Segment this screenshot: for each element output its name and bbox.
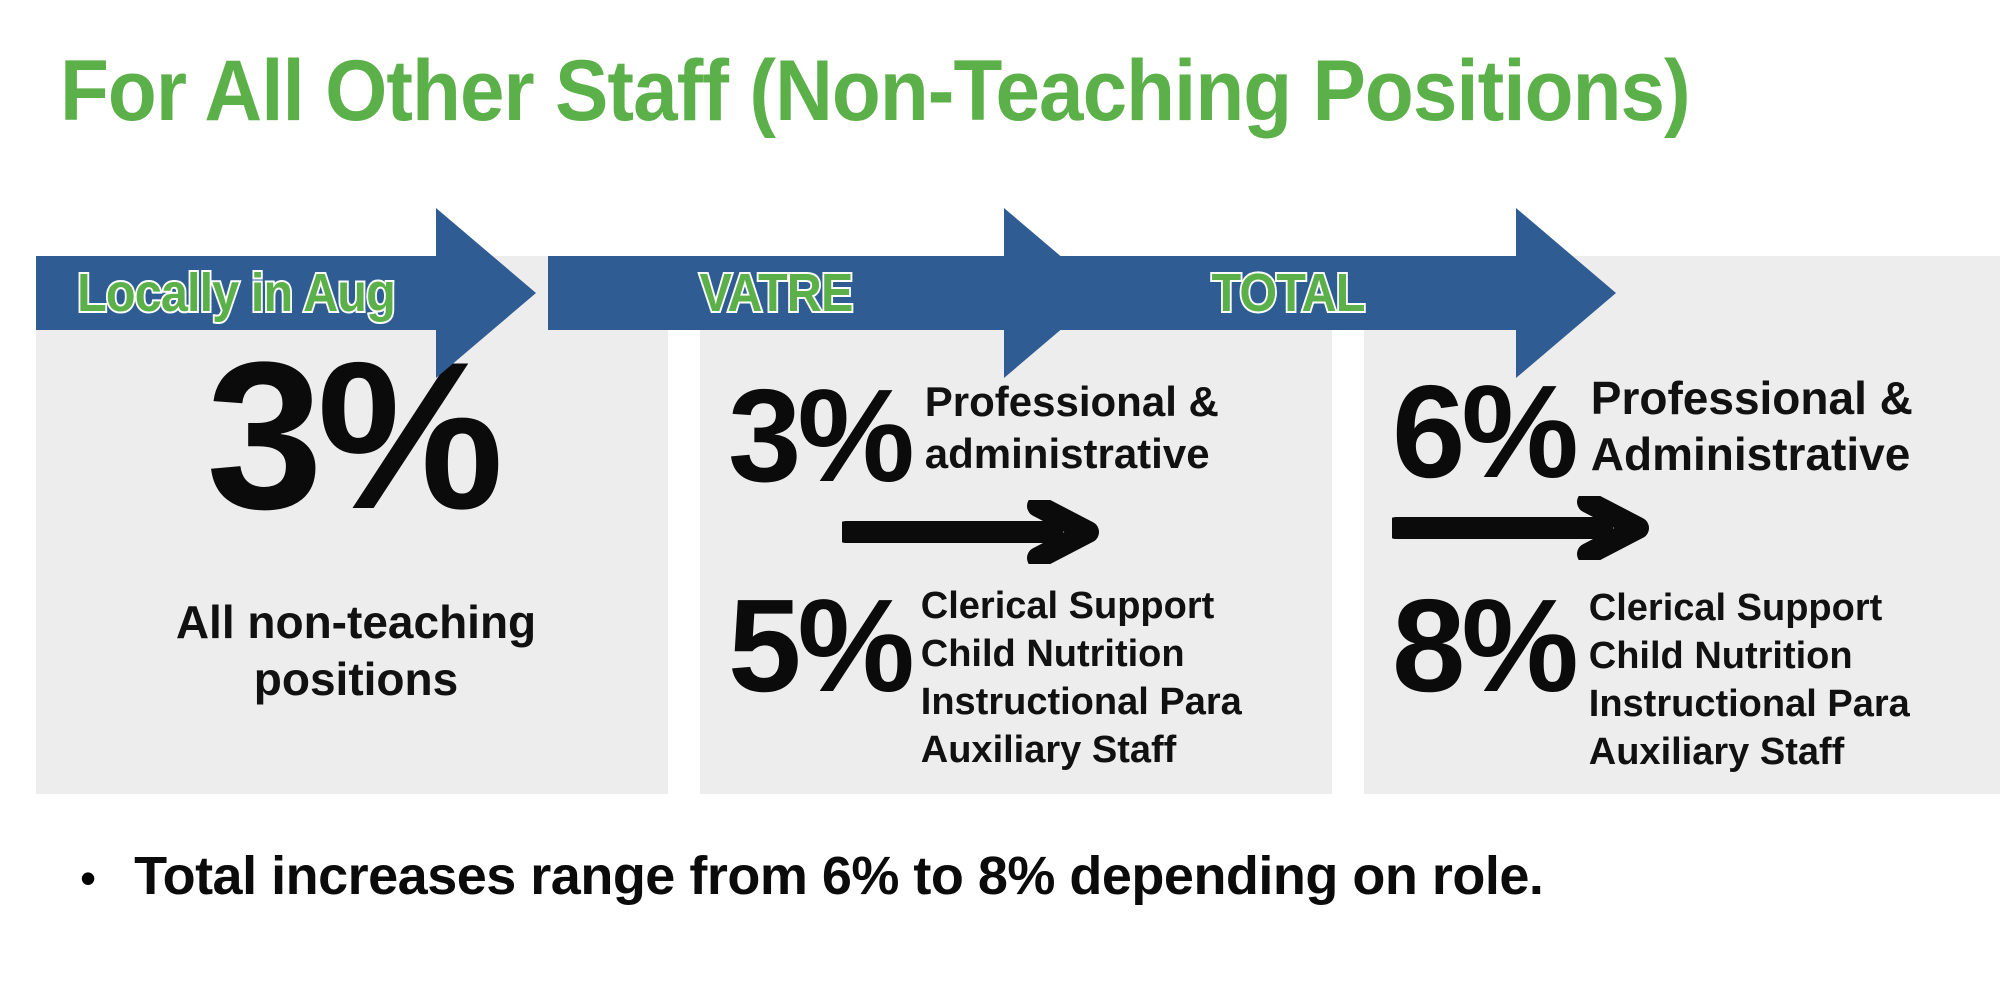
banner-vatre: VATRE (548, 256, 1004, 330)
percent-value: 3% (728, 370, 911, 502)
role-item: Auxiliary Staff (1589, 728, 1992, 776)
row-vatre-support: 5% Clerical Support Child Nutrition Inst… (728, 580, 1318, 774)
page-title: For All Other Staff (Non-Teaching Positi… (60, 38, 1808, 148)
role-list: Clerical Support Child Nutrition Instruc… (1575, 580, 1992, 776)
role-item: administrative (925, 428, 1318, 480)
banner-locally-in-aug: Locally in Aug (36, 256, 436, 330)
arrow-right-icon (1392, 496, 1652, 560)
role-item: Clerical Support (1589, 584, 1992, 632)
role-list: Professional & Administrative (1575, 366, 1992, 482)
percent-value: 6% (1392, 366, 1575, 498)
role-item: Administrative (1591, 426, 1992, 482)
role-item: Professional & (1591, 370, 1992, 426)
percent-value: 5% (728, 580, 911, 712)
role-item: Instructional Para (921, 678, 1318, 726)
banner-label: TOTAL (1083, 256, 1493, 330)
role-item: Child Nutrition (1589, 632, 1992, 680)
arrow-right-icon (1516, 208, 1616, 378)
percent-value: 8% (1392, 580, 1575, 712)
role-item: Auxiliary Staff (921, 726, 1318, 774)
row-vatre-professional: 3% Professional & administrative (728, 370, 1318, 502)
banner-total: TOTAL (1060, 256, 1516, 330)
bullet-point-icon: • (80, 847, 96, 909)
banner-label: VATRE (571, 256, 981, 330)
arrow-right-icon (436, 208, 536, 378)
footnote-bullet-row: • Total increases range from 6% to 8% de… (80, 844, 1940, 909)
percent-value-locally: 3% (36, 330, 668, 542)
footnote-text: Total increases range from 6% to 8% depe… (96, 844, 1543, 908)
role-list: Professional & administrative (911, 370, 1318, 480)
row-total-professional: 6% Professional & Administrative (1392, 366, 1992, 498)
banner-label: Locally in Aug (56, 256, 416, 330)
caption-line: All non-teaching (86, 594, 626, 651)
role-item: Instructional Para (1589, 680, 1992, 728)
caption-line: positions (86, 651, 626, 708)
role-item: Professional & (925, 376, 1318, 428)
role-item: Clerical Support (921, 582, 1318, 630)
percent-caption-locally: All non-teaching positions (86, 594, 626, 708)
arrow-right-icon (842, 500, 1102, 564)
role-list: Clerical Support Child Nutrition Instruc… (911, 580, 1318, 774)
row-total-support: 8% Clerical Support Child Nutrition Inst… (1392, 580, 1992, 776)
role-item: Child Nutrition (921, 630, 1318, 678)
